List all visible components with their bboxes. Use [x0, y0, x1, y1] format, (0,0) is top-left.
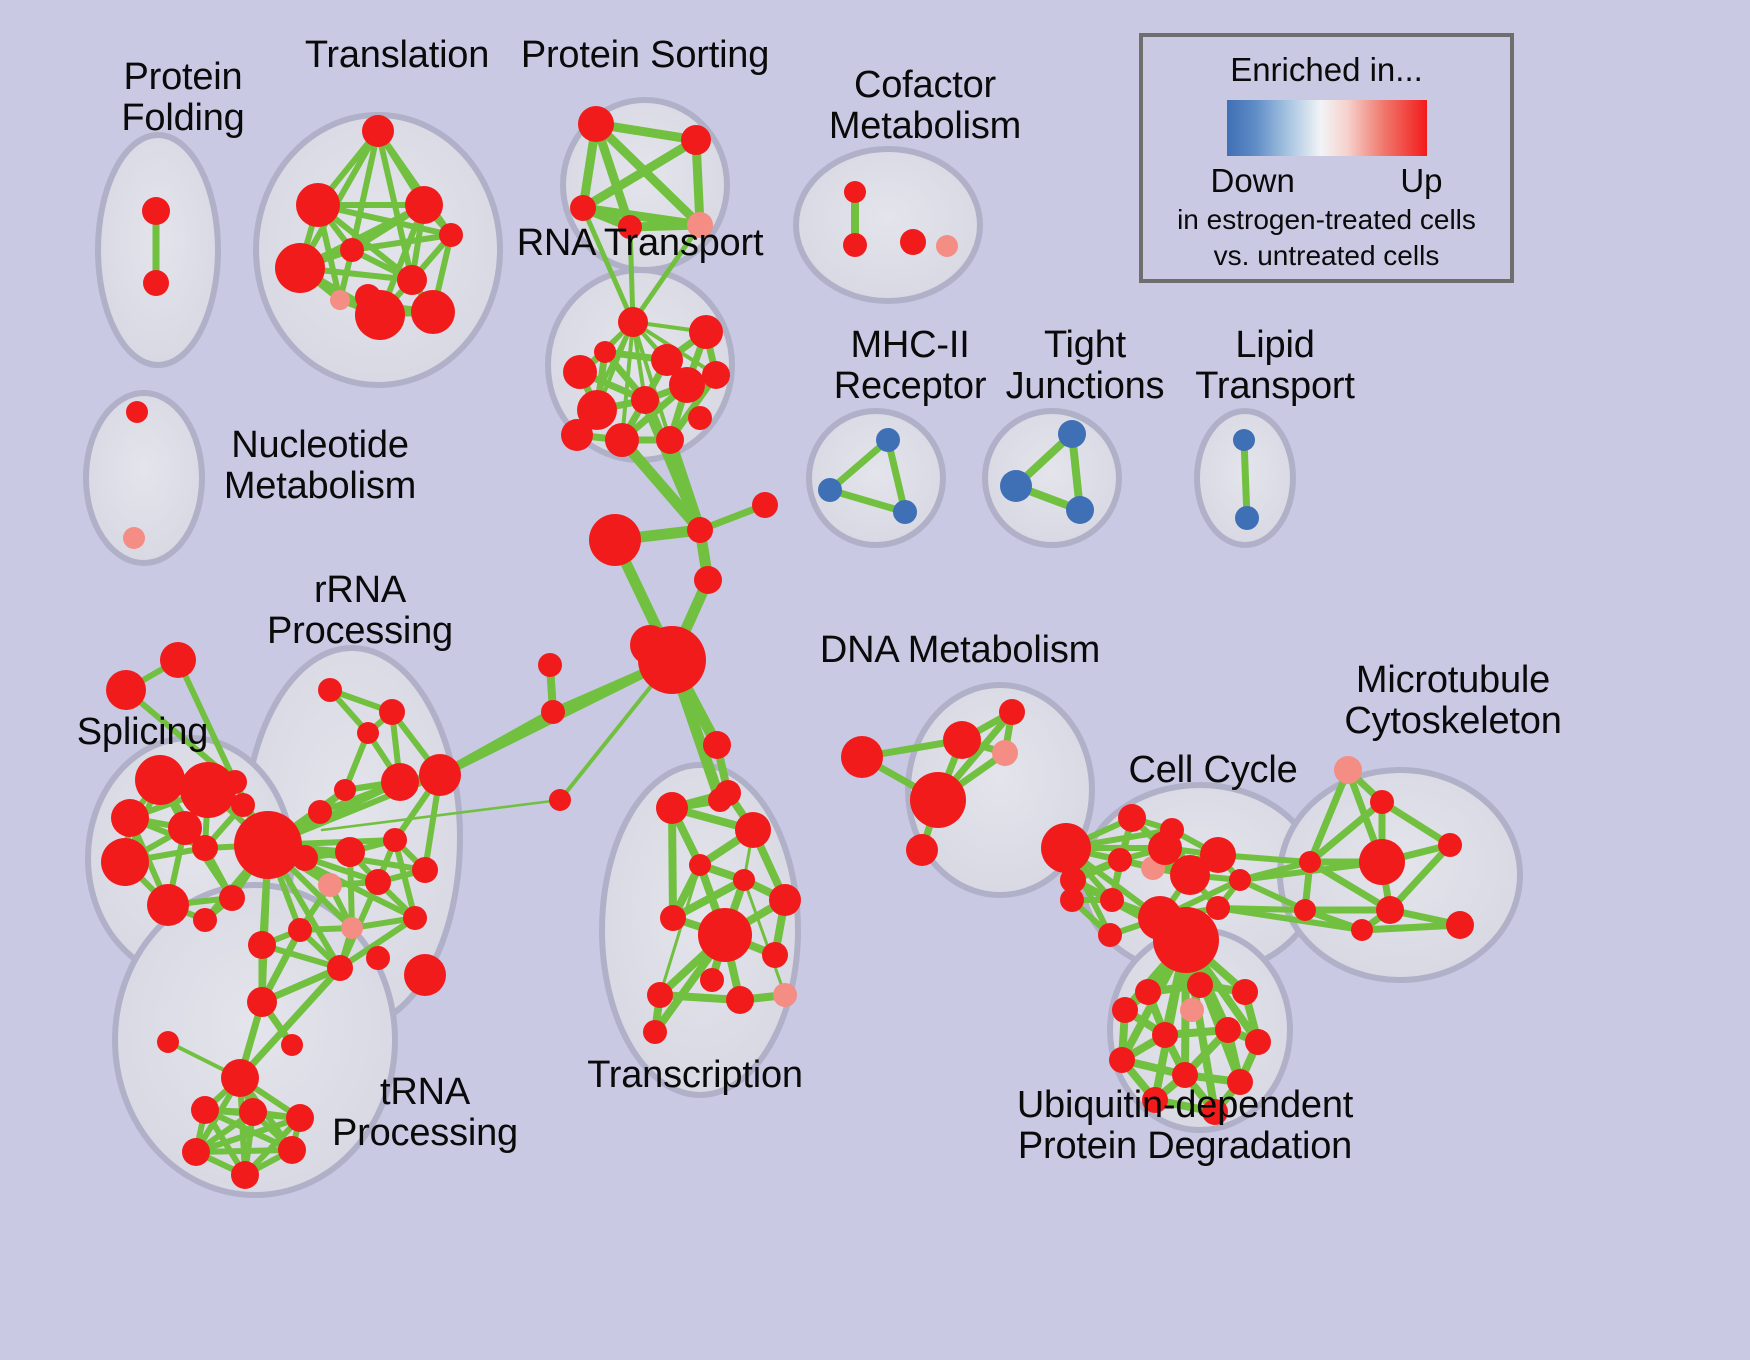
- legend-subtitle-line2: vs. untreated cells: [1214, 240, 1440, 272]
- legend-down-label: Down: [1211, 162, 1295, 200]
- label-cell-cycle: Cell Cycle: [1098, 750, 1328, 791]
- label-splicing: Splicing: [50, 712, 235, 753]
- legend-subtitle-line1: in estrogen-treated cells: [1177, 204, 1476, 236]
- label-translation: Translation: [282, 35, 512, 76]
- hull-cofactor-metabolism: [796, 149, 980, 301]
- hull-mhc-ii-receptor: [809, 411, 943, 545]
- legend: Enriched in... Down Up in estrogen-treat…: [1139, 33, 1514, 283]
- label-microtubule-cytoskeleton: Microtubule Cytoskeleton: [1298, 660, 1608, 741]
- label-rna-transport: RNA Transport: [495, 223, 785, 264]
- label-dna-metabolism: DNA Metabolism: [810, 630, 1110, 671]
- legend-color-gradient-bar: [1227, 100, 1427, 156]
- legend-endpoints: Down Up: [1211, 162, 1443, 200]
- label-lipid-transport: Lipid Transport: [1155, 325, 1395, 406]
- legend-up-label: Up: [1400, 162, 1442, 200]
- network-figure: Protein Folding Translation Protein Sort…: [0, 0, 1750, 1360]
- label-cofactor-metabolism: Cofactor Metabolism: [790, 65, 1060, 146]
- label-rrna-processing: rRNA Processing: [240, 570, 480, 651]
- label-ubiquitin-degradation: Ubiquitin-dependent Protein Degradation: [985, 1085, 1385, 1166]
- label-trna-processing: tRNA Processing: [305, 1072, 545, 1153]
- legend-title: Enriched in...: [1230, 51, 1423, 89]
- label-nucleotide-metabolism: Nucleotide Metabolism: [185, 425, 455, 506]
- label-transcription: Transcription: [565, 1055, 825, 1096]
- label-protein-sorting: Protein Sorting: [500, 35, 790, 76]
- label-protein-folding: Protein Folding: [78, 57, 288, 138]
